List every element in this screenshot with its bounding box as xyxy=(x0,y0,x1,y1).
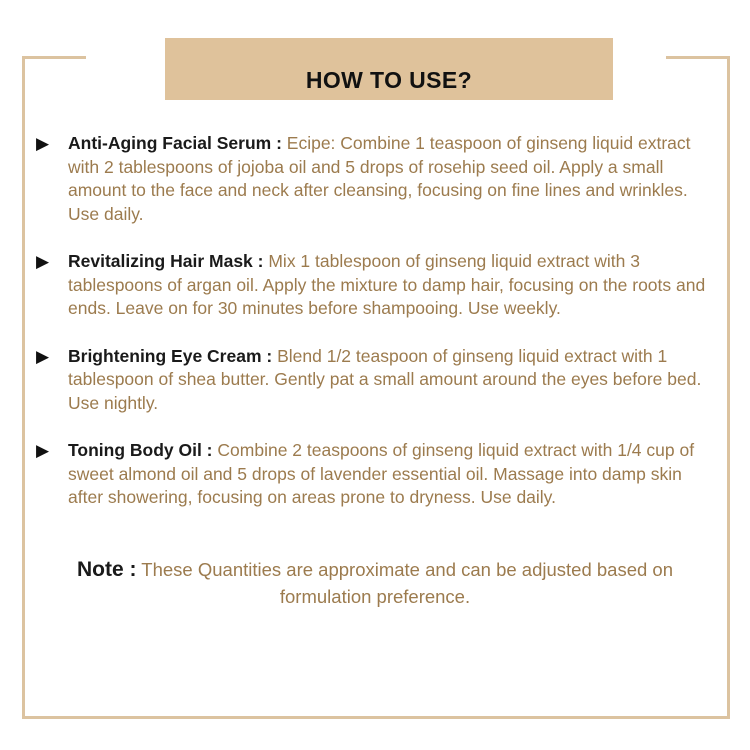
step-text: Anti-Aging Facial Serum : Ecipe: Combine… xyxy=(68,132,720,226)
steps-list: ▶ Anti-Aging Facial Serum : Ecipe: Combi… xyxy=(30,132,720,610)
note-block: Note : These Quantities are approximate … xyxy=(30,556,720,610)
list-item: ▶ Anti-Aging Facial Serum : Ecipe: Combi… xyxy=(30,132,720,226)
frame-border-right xyxy=(727,56,730,719)
step-title: Toning Body Oil : xyxy=(68,440,213,460)
frame-border-bottom xyxy=(22,716,730,719)
note-text: These Quantities are approximate and can… xyxy=(141,559,673,607)
frame-border-left xyxy=(22,56,25,719)
step-title: Brightening Eye Cream : xyxy=(68,346,272,366)
how-to-use-poster: HOW TO USE? ▶ Anti-Aging Facial Serum : … xyxy=(0,0,750,750)
arrow-right-icon: ▶ xyxy=(36,346,49,367)
frame-corner-top-right xyxy=(666,56,730,59)
frame-corner-top-left xyxy=(22,56,86,59)
step-text: Revitalizing Hair Mask : Mix 1 tablespoo… xyxy=(68,250,720,321)
step-text: Toning Body Oil : Combine 2 teaspoons of… xyxy=(68,439,720,510)
arrow-right-icon: ▶ xyxy=(36,251,49,272)
step-title: Anti-Aging Facial Serum : xyxy=(68,133,282,153)
arrow-right-icon: ▶ xyxy=(36,440,49,461)
page-title: HOW TO USE? xyxy=(306,69,472,92)
step-title: Revitalizing Hair Mask : xyxy=(68,251,263,271)
header-banner: HOW TO USE? xyxy=(165,38,613,100)
list-item: ▶ Brightening Eye Cream : Blend 1/2 teas… xyxy=(30,345,720,416)
list-item: ▶ Toning Body Oil : Combine 2 teaspoons … xyxy=(30,439,720,510)
list-item: ▶ Revitalizing Hair Mask : Mix 1 tablesp… xyxy=(30,250,720,321)
arrow-right-icon: ▶ xyxy=(36,133,49,154)
step-text: Brightening Eye Cream : Blend 1/2 teaspo… xyxy=(68,345,720,416)
note-label: Note : xyxy=(77,558,137,581)
